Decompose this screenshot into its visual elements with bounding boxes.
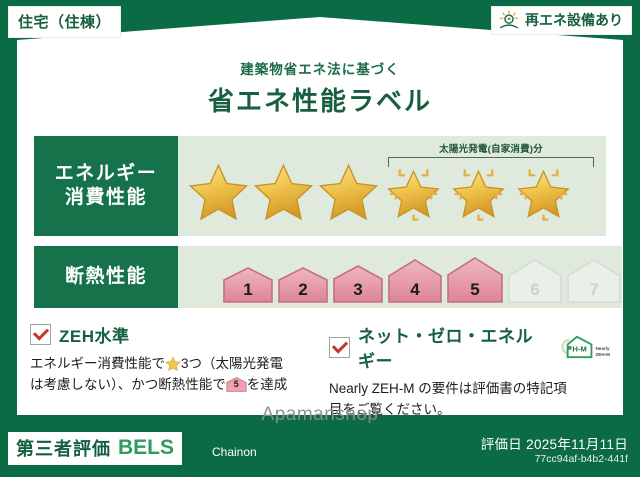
zeh-m-sub-line1: Nearly [595,346,609,351]
star-filled-pv [382,161,445,221]
zeh-standard-title: ZEH水準 [59,322,130,347]
renewable-badge-label: 再エネ設備あり [525,10,623,30]
pv-bracket-label: 太陽光発電(自家消費)分 [388,141,594,155]
zeh-m-logo: H-M Nearly ZEH-M [560,334,610,360]
label-footer: 第三者評価 BELS Chainon 評価日 2025年11月11日 77cc9… [0,423,640,477]
sun-icon [498,10,520,30]
bels-badge: 第三者評価 BELS [8,432,182,465]
insulation-row-label: 断熱性能 [34,246,178,308]
insulation-level-scale: 1 2 3 [178,249,622,305]
insulation-row-body: 1 2 3 [178,246,622,308]
bels-japanese-label: 第三者評価 [16,435,111,461]
evaluation-date: 評価日 2025年11月11日 [481,433,628,453]
zeh-body-part2: は考慮しない）、かつ断熱性能で [30,377,226,392]
bels-logo-text: BELS [118,436,174,460]
insulation-level-item: 1 [222,265,274,305]
zeh-standard-body: エネルギー消費性能で 3つ（太陽光発電 は考慮しない）、かつ断熱性能で 5 を達… [30,354,311,395]
performance-rows: エネルギー 消費性能 太陽光発電(自家消費)分 [34,136,606,318]
insulation-level-item: 3 [332,263,384,305]
insulation-level-number: 1 [222,280,274,300]
insulation-level-number: 4 [387,280,443,300]
net-zero-title: ネット・ゼロ・エネルギー [358,322,549,372]
star-filled [252,161,315,221]
title-subtitle: 建築物省エネ法に基づく [0,58,640,78]
checkbox-checked-icon[interactable] [30,324,51,345]
insulation-level-item-inactive: 7 [566,257,622,305]
renewable-equipment-badge: 再エネ設備あり [491,6,632,35]
zeh-body-part1: エネルギー消費性能で [30,356,165,371]
net-zero-header: ネット・ゼロ・エネルギー H-M Nearly ZEH-M [329,322,610,372]
svg-text:H-M: H-M [573,344,587,353]
zeh-m-sub-line2: ZEH-M [595,352,610,357]
insulation-level-item: 2 [277,265,329,305]
building-type-badge: 住宅（住棟） [8,6,121,38]
insulation-level-number: 6 [507,280,563,300]
house-inline-number: 5 [226,378,247,392]
insulation-level-number: 3 [332,280,384,300]
star-filled [187,161,250,221]
zeh-body-part3: を達成 [247,377,288,392]
star-rating [178,161,575,221]
insulation-performance-row: 断熱性能 1 [34,246,606,308]
energy-label-line1: エネルギー [55,162,158,186]
insulation-level-item-inactive: 6 [507,257,563,305]
star-filled [317,161,380,221]
insulation-level-item: 4 [387,257,443,305]
energy-performance-row: エネルギー 消費性能 太陽光発電(自家消費)分 [34,136,606,236]
insulation-level-number: 5 [446,280,504,300]
insulation-level-number: 7 [566,280,622,300]
zeh-standard-header: ZEH水準 [30,322,311,347]
star-filled-pv [447,161,510,221]
evaluation-id: 77cc94af-b4b2-441f [535,453,628,465]
zeh-body-stars-count: 3つ（太陽光発電 [181,356,283,371]
energy-performance-label: 住宅（住棟） 再エネ設備あり 建築物省エネ法に基づく 省エネ性能ラベル [0,0,640,477]
label-title-block: 建築物省エネ法に基づく 省エネ性能ラベル [0,58,640,118]
company-name: Chainon [212,445,257,459]
energy-label-line2: 消費性能 [65,186,147,210]
insulation-level-number: 2 [277,280,329,300]
net-zero-body-part1: Nearly ZEH-M の要件は評価書の特記項 [329,381,567,396]
house-inline-icon: 5 [226,376,247,393]
star-inline-icon [165,356,181,372]
checkbox-checked-icon[interactable] [329,337,350,358]
energy-row-body: 太陽光発電(自家消費)分 [178,136,606,236]
star-filled-pv [512,161,575,221]
title-main: 省エネ性能ラベル [0,81,640,118]
energy-row-label: エネルギー 消費性能 [34,136,178,236]
insulation-level-item-achieved: 5 [446,255,504,305]
zeh-m-logo-subtext: Nearly ZEH-M [595,346,610,360]
